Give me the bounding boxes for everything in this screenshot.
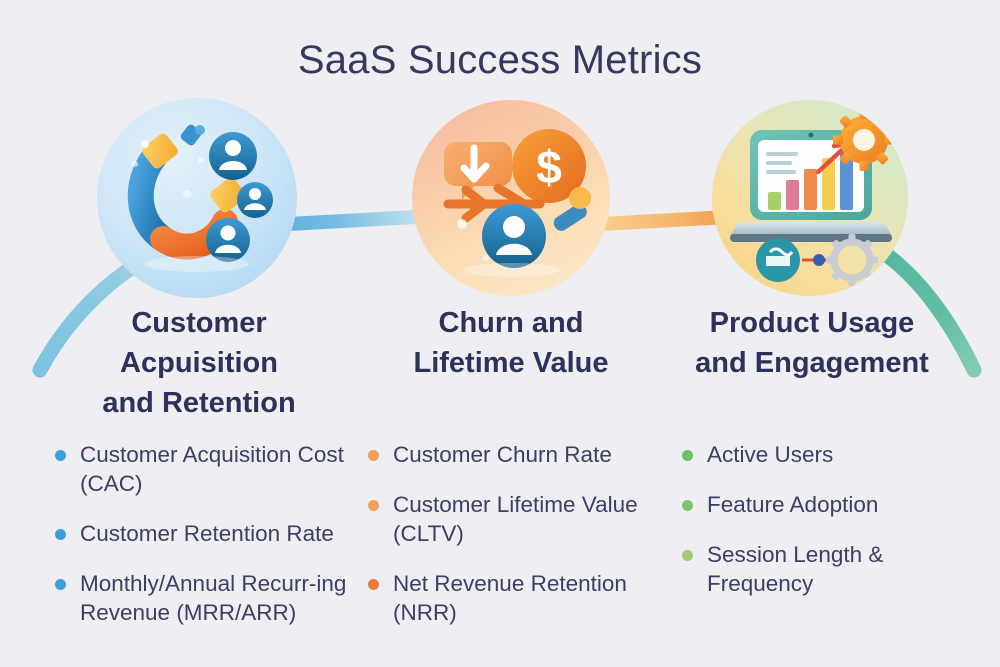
list-item-label: Customer Churn Rate [393,440,612,469]
bullet-dot-icon [368,450,379,461]
list-item: Active Users [682,440,972,469]
list-item-label: Customer Lifetime Value (CLTV) [393,490,658,548]
bullet-list-product-usage: Active Users Feature Adoption Session Le… [682,440,972,619]
page-title: SaaS Success Metrics [0,38,1000,83]
bullet-dot-icon [682,550,693,561]
bullet-dot-icon [55,450,66,461]
bullet-dot-icon [682,450,693,461]
heading-line: Acpuisition [48,343,350,383]
bullet-dot-icon [55,529,66,540]
laptop-bar-chart-gear-icon [712,100,908,296]
dollar-coin-churn-arrow-icon: $ [412,100,610,296]
svg-text:$: $ [536,141,562,193]
column-heading-customer-acquisition: Customer Acpuisition and Retention [48,303,350,423]
bullet-dot-icon [368,579,379,590]
column-heading-churn-lifetime-value: Churn and Lifetime Value [370,303,652,383]
icon-circle-product-usage [712,100,908,296]
list-item-label: Feature Adoption [707,490,878,519]
magnet-attracting-people-icon [97,98,297,298]
heading-line: Product Usage [668,303,956,343]
list-item-label: Net Revenue Retention (NRR) [393,569,658,627]
bullet-list-customer-acquisition: Customer Acquisition Cost (CAC) Customer… [55,440,360,648]
list-item: Monthly/Annual Recurr-ing Revenue (MRR/A… [55,569,360,627]
icon-circle-customer-acquisition [97,98,297,298]
list-item-label: Session Length & Frequency [707,540,972,598]
list-item: Customer Lifetime Value (CLTV) [368,490,658,548]
list-item: Net Revenue Retention (NRR) [368,569,658,627]
list-item-label: Customer Retention Rate [80,519,334,548]
list-item: Session Length & Frequency [682,540,972,598]
heading-line: and Engagement [668,343,956,383]
list-item: Customer Retention Rate [55,519,360,548]
list-item: Customer Acquisition Cost (CAC) [55,440,360,498]
heading-line: Churn and [370,303,652,343]
bullet-dot-icon [682,500,693,511]
list-item: Customer Churn Rate [368,440,658,469]
bullet-dot-icon [55,579,66,590]
icon-circle-churn-lifetime-value: $ [412,100,610,296]
infographic-canvas: SaaS Success Metrics [0,0,1000,667]
list-item: Feature Adoption [682,490,972,519]
list-item-label: Customer Acquisition Cost (CAC) [80,440,360,498]
heading-line: Lifetime Value [370,343,652,383]
list-item-label: Monthly/Annual Recurr-ing Revenue (MRR/A… [80,569,360,627]
column-heading-product-usage: Product Usage and Engagement [668,303,956,383]
bullet-list-churn-lifetime-value: Customer Churn Rate Customer Lifetime Va… [368,440,658,648]
bullet-dot-icon [368,500,379,511]
heading-line: Customer [48,303,350,343]
heading-line: and Retention [48,383,350,423]
list-item-label: Active Users [707,440,833,469]
